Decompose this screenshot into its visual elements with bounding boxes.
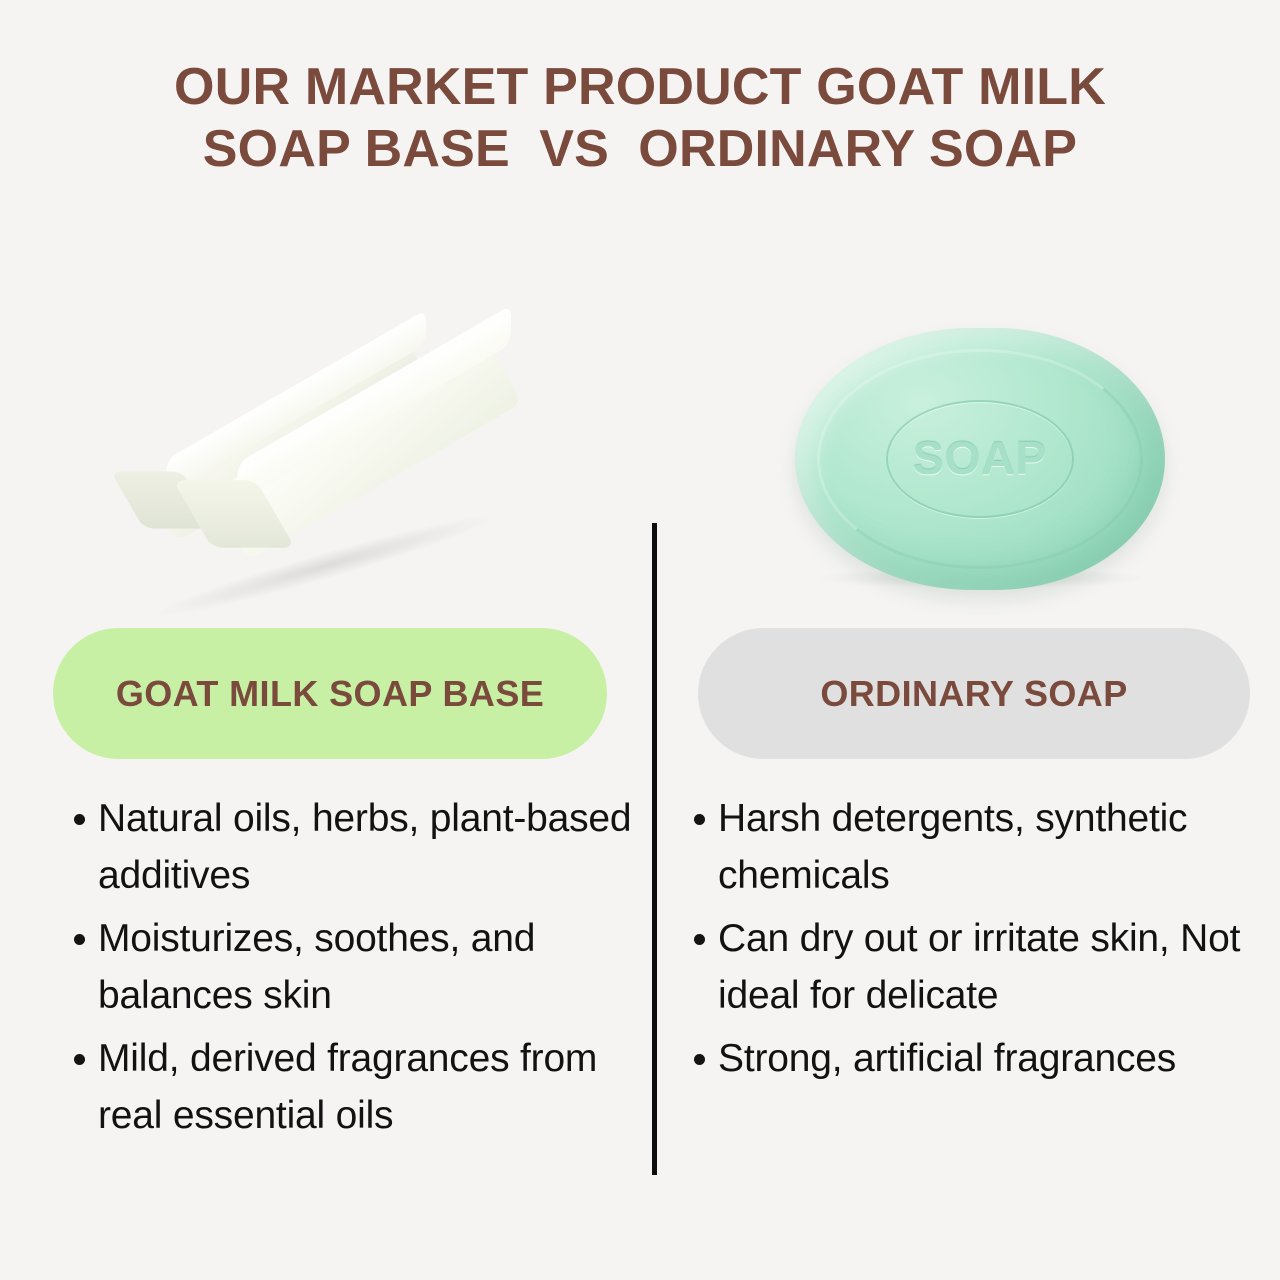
pill-goat-milk-soap-base: GOAT MILK SOAP BASE — [53, 628, 607, 759]
page-title-line-2: SOAP BASE VS ORDINARY SOAP — [0, 118, 1280, 180]
ordinary-soap-column: Harsh detergents, synthetic chemicals Ca… — [678, 790, 1268, 1093]
list-item: Strong, artificial fragrances — [678, 1030, 1268, 1087]
list-item: Can dry out or irritate skin, Not ideal … — [678, 910, 1268, 1024]
pill-ordinary-soap: ORDINARY SOAP — [698, 628, 1250, 759]
vertical-divider — [652, 523, 657, 1175]
goat-milk-soap-base-bullet-list: Natural oils, herbs, plant-based additiv… — [58, 790, 638, 1144]
goat-milk-soap-bars-image — [120, 325, 520, 600]
pill-goat-milk-soap-base-label: GOAT MILK SOAP BASE — [116, 673, 544, 715]
ordinary-soap-bullet-list: Harsh detergents, synthetic chemicals Ca… — [678, 790, 1268, 1087]
ordinary-soap-bar-image: SOAP — [795, 328, 1165, 590]
goat-milk-soap-base-column: Natural oils, herbs, plant-based additiv… — [58, 790, 638, 1150]
product-images-row: SOAP — [0, 300, 1280, 610]
soap-emboss-text: SOAP — [913, 431, 1047, 485]
page-title-line-1: OUR MARKET PRODUCT GOAT MILK — [0, 56, 1280, 118]
page-title: OUR MARKET PRODUCT GOAT MILK SOAP BASE V… — [0, 56, 1280, 180]
list-item: Harsh detergents, synthetic chemicals — [678, 790, 1268, 904]
list-item: Moisturizes, soothes, and balances skin — [58, 910, 638, 1024]
list-item: Natural oils, herbs, plant-based additiv… — [58, 790, 638, 904]
pill-ordinary-soap-label: ORDINARY SOAP — [820, 673, 1127, 715]
soap-oval-body: SOAP — [795, 328, 1165, 590]
list-item: Mild, derived fragrances from real essen… — [58, 1030, 638, 1144]
comparison-infographic: OUR MARKET PRODUCT GOAT MILK SOAP BASE V… — [0, 0, 1280, 1280]
